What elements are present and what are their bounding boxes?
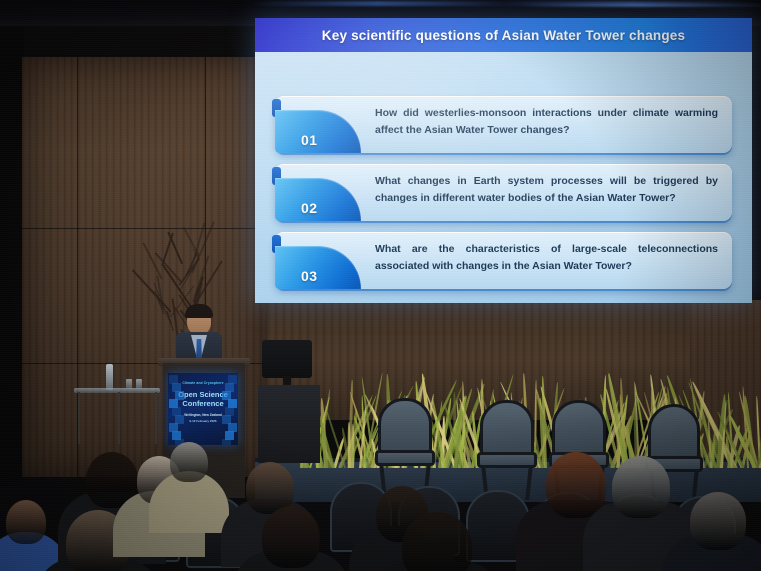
question-box: 01 How did westerlies-monsoon interactio… [275, 96, 732, 153]
question-number-badge: 02 [275, 178, 361, 221]
attendee-bald [690, 492, 746, 550]
chair-back [480, 400, 534, 456]
table-leg [118, 392, 120, 444]
question-box: 03 What are the characteristics of large… [275, 232, 732, 289]
attendee-grey-hair-tan-jacket [170, 442, 208, 482]
slide-title: Key scientific questions of Asian Water … [322, 28, 685, 43]
slide-title-bar: Key scientific questions of Asian Water … [255, 18, 752, 52]
presentation-slide: Key scientific questions of Asian Water … [255, 18, 752, 303]
drinking-glass [136, 379, 142, 389]
side-table [74, 388, 160, 393]
question-box: 02 What changes in Earth system processe… [275, 164, 732, 221]
branch-twig [156, 294, 172, 323]
av-equipment-cart [258, 385, 320, 463]
chair-back [552, 400, 606, 456]
question-text: How did westerlies-monsoon interactions … [375, 105, 718, 139]
question-text: What are the characteristics of large-sc… [375, 241, 718, 275]
attendee-dark-hair [546, 452, 606, 518]
lectern-sign: Climate and Cryosphere Open Science Conf… [168, 373, 238, 445]
attendee-long-hair [262, 506, 320, 568]
question-number: 03 [301, 268, 318, 284]
question-number: 01 [301, 132, 318, 148]
wall-shadow-left [0, 26, 24, 486]
attendee-blue-shirt [402, 512, 472, 571]
confidence-monitor [262, 340, 312, 378]
attendee-short-hair [612, 456, 670, 518]
sign-chevron [222, 439, 231, 445]
question-number-badge: 01 [275, 110, 361, 153]
question-text: What changes in Earth system processes w… [375, 173, 718, 207]
question-number: 02 [301, 200, 318, 216]
water-bottle [106, 364, 113, 390]
branch-twig [167, 232, 182, 264]
conference-photo-scene: Key scientific questions of Asian Water … [0, 0, 761, 571]
chair-leg [525, 466, 533, 500]
table-leg [78, 392, 80, 444]
attendee-blue-shirt [6, 500, 46, 544]
chair-back [378, 398, 432, 454]
stage-chair [480, 400, 534, 500]
chair-back [648, 404, 700, 460]
ceiling-light-strip [520, 4, 761, 7]
table-leg [155, 392, 157, 444]
drinking-glass [126, 379, 132, 389]
speaker-hair [185, 304, 213, 318]
stage-chair [378, 398, 432, 498]
question-number-badge: 03 [275, 246, 361, 289]
